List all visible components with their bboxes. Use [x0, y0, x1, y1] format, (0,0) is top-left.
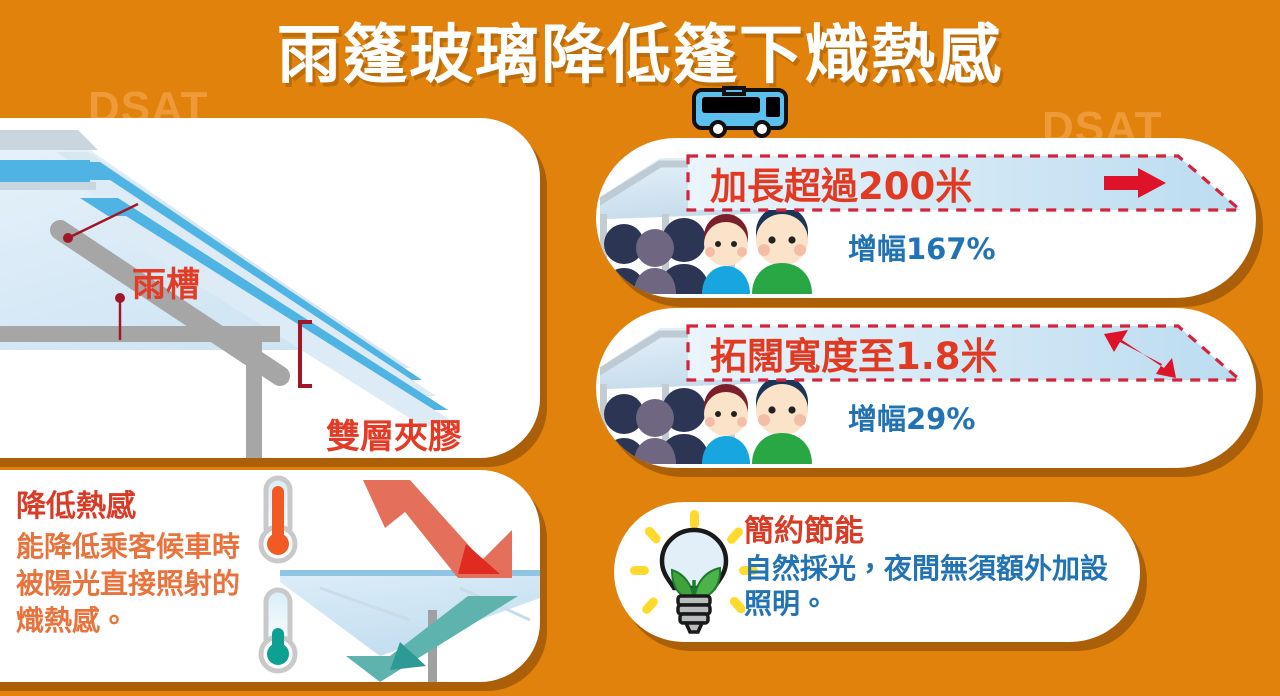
person-adult [752, 206, 812, 294]
page-title: 雨篷玻璃降低篷下熾熱感 [0, 4, 1280, 96]
thermometer-cool-icon [261, 590, 295, 671]
eco-title: 簡約節能 [744, 514, 1124, 551]
heat-title: 降低熱感 [16, 488, 266, 526]
heat-reduction-card: 降低熱感 能降低乘客候車時被陽光直接照射的熾熱感。 [0, 470, 540, 682]
eco-body: 自然採光，夜間無須額外加設照明。 [744, 551, 1124, 623]
stat-card-width: 拓闊寬度至1.8米 增幅29% [596, 308, 1256, 468]
length-banner-text: 加長超過200米 [710, 156, 972, 210]
label-laminated-glass: 雙層夾膠 [326, 418, 462, 456]
heat-body: 能降低乘客候車時被陽光直接照射的熾熱感。 [16, 528, 266, 640]
width-increase-text: 增幅29% [848, 396, 975, 438]
canopy-illustration [0, 118, 540, 458]
eco-text-block: 簡約節能 自然採光，夜間無須額外加設照明。 [744, 514, 1124, 622]
double-arrow-diagonal-icon [1102, 328, 1182, 380]
width-banner-text: 拓闊寬度至1.8米 [710, 326, 998, 380]
bus-icon [690, 84, 790, 138]
infographic-root: DSAT DSAT 雨篷玻璃降低篷下熾熱感 [0, 0, 1280, 696]
person-child [702, 384, 750, 464]
person-child [702, 214, 750, 294]
heat-illustration [250, 470, 540, 682]
length-increase-text: 增幅167% [848, 226, 996, 268]
eco-card: 簡約節能 自然採光，夜間無須額外加設照明。 [614, 502, 1140, 642]
canopy-detail-card: 雨槽 雙層夾膠 LOW-E 鍍膜 [0, 118, 540, 458]
stat-card-length: 加長超過200米 增幅167% [596, 138, 1256, 298]
lightbulb-leaf-icon [628, 508, 760, 636]
label-gutter: 雨槽 [132, 266, 200, 304]
thermometer-hot-icon [261, 478, 295, 561]
arrow-right-icon [1104, 166, 1168, 200]
heat-text-block: 降低熱感 能降低乘客候車時被陽光直接照射的熾熱感。 [16, 488, 266, 639]
person-adult [752, 376, 812, 464]
